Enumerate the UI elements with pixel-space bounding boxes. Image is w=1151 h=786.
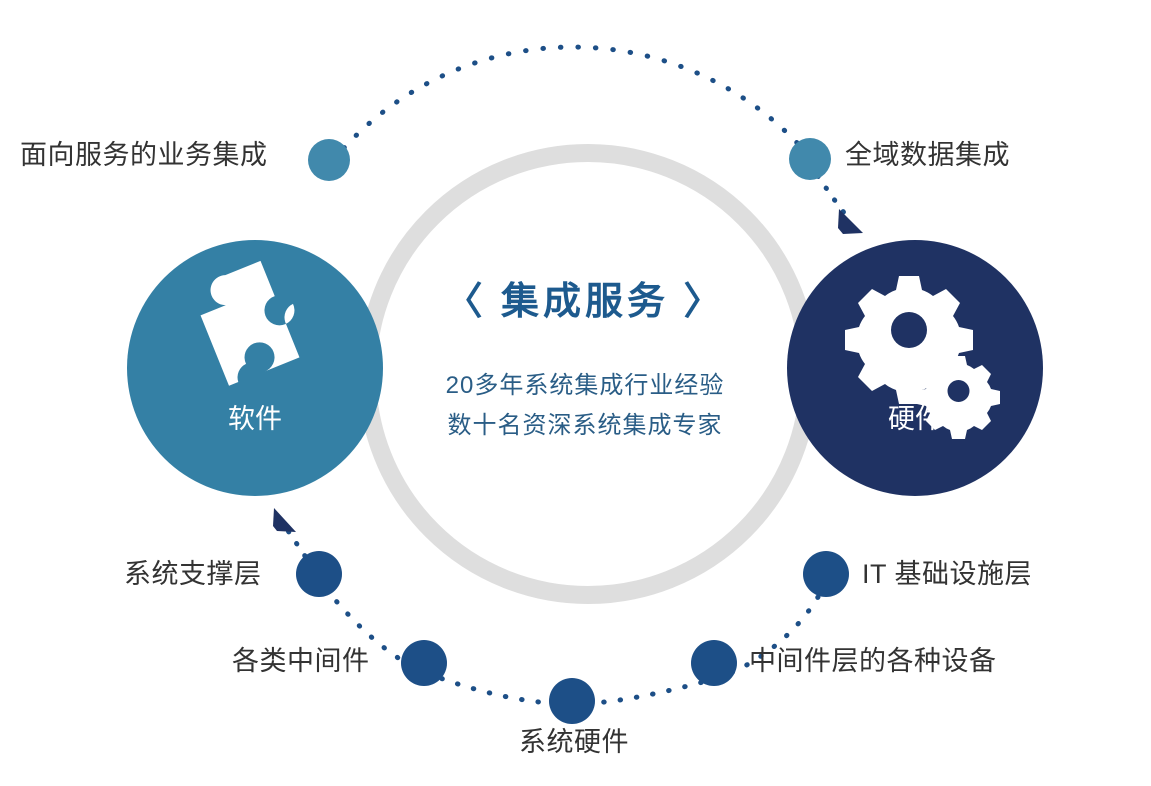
integration-services-diagram: 〈 集成服务 〉 20多年系统集成行业经验 数十名资深系统集成专家 软件 硬件 … <box>0 0 1151 786</box>
top-dotted-arc <box>344 47 800 148</box>
dot-mw-devices[interactable] <box>691 640 737 686</box>
label-soa: 面向服务的业务集成 <box>20 142 268 169</box>
label-middleware: 各类中间件 <box>232 648 370 675</box>
node-hardware-caption: 硬件 <box>815 406 1015 433</box>
arrowhead-to-software-icon <box>273 508 296 532</box>
label-global-data: 全域数据集成 <box>845 142 1010 169</box>
dot-it-infra[interactable] <box>803 551 849 597</box>
arrowhead-to-hardware-icon <box>838 209 863 234</box>
label-it-infra: IT 基础设施层 <box>862 561 1032 588</box>
dot-sys-support[interactable] <box>296 551 342 597</box>
center-subtitle-line-1: 20多年系统集成行业经验 <box>345 366 825 406</box>
label-sys-hardware: 系统硬件 <box>519 729 629 756</box>
top-arc-tail <box>818 176 849 219</box>
dot-global-data[interactable] <box>789 138 831 180</box>
label-mw-devices: 中间件层的各种设备 <box>749 648 997 675</box>
center-subtitle-line-2: 数十名资深系统集成专家 <box>345 406 825 446</box>
center-subtitle: 20多年系统集成行业经验 数十名资深系统集成专家 <box>345 366 825 446</box>
node-software-caption: 软件 <box>155 406 355 433</box>
label-sys-support: 系统支撑层 <box>124 561 262 588</box>
dot-soa[interactable] <box>308 139 350 181</box>
dot-sys-hardware[interactable] <box>549 678 595 724</box>
dot-middleware[interactable] <box>401 640 447 686</box>
center-title: 〈 集成服务 〉 <box>345 283 825 321</box>
